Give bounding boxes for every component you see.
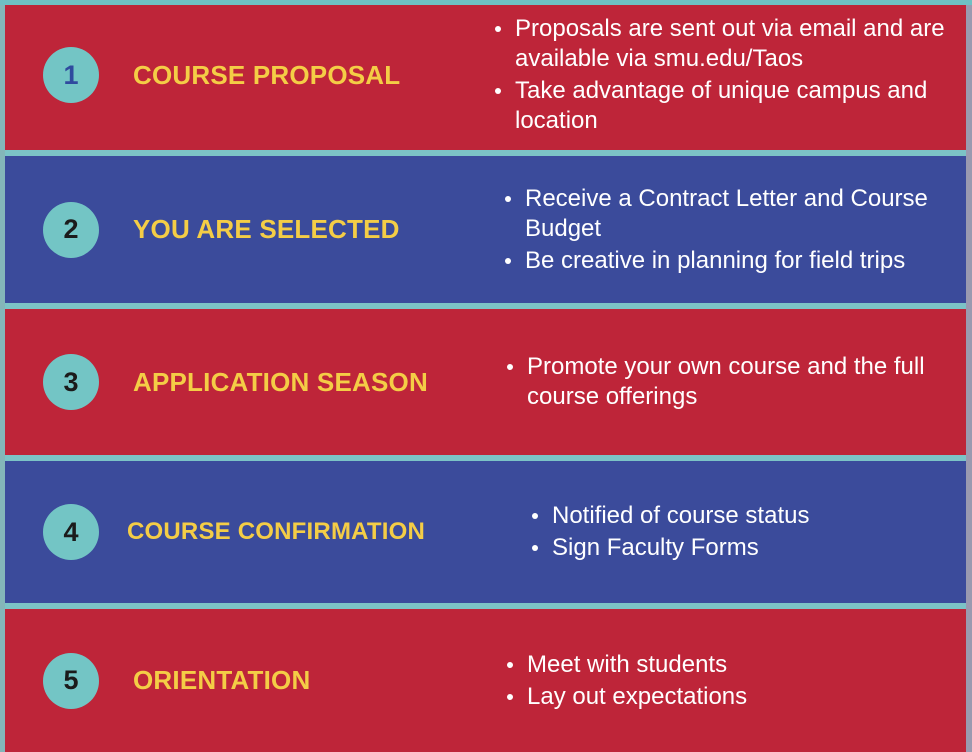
bullet-text: Receive a Contract Letter and Course Bud…	[525, 185, 928, 242]
left-edge-strip	[0, 0, 5, 752]
bullet-dot-icon	[495, 26, 501, 32]
step-5-details: Meet with students Lay out expectations	[491, 650, 966, 712]
step-2-number-badge: 2	[43, 202, 99, 258]
step-row-1: 1 COURSE PROPOSAL Proposals are sent out…	[0, 0, 972, 150]
step-4-details: Notified of course status Sign Faculty F…	[505, 501, 966, 563]
step-1-number-badge: 1	[43, 47, 99, 103]
step-2-heading-group: 2 YOU ARE SELECTED	[5, 202, 491, 258]
step-3-title: APPLICATION SEASON	[133, 367, 428, 398]
bullet-dot-icon	[507, 694, 513, 700]
list-item: Lay out expectations	[505, 682, 747, 712]
step-5-number-badge: 5	[43, 653, 99, 709]
bullet-text: Take advantage of unique campus and loca…	[515, 77, 927, 134]
step-row-5: 5 ORIENTATION Meet with students Lay out…	[0, 603, 972, 752]
step-row-3: 3 APPLICATION SEASON Promote your own co…	[0, 303, 972, 455]
bullet-dot-icon	[505, 196, 511, 202]
right-edge-strip	[966, 0, 972, 752]
step-1-bullet-list: Proposals are sent out via email and are…	[493, 14, 952, 136]
step-1-title: COURSE PROPOSAL	[133, 60, 400, 91]
bullet-text: Sign Faculty Forms	[552, 534, 759, 561]
step-5-bullet-list: Meet with students Lay out expectations	[505, 650, 747, 712]
bullet-dot-icon	[532, 513, 538, 519]
bullet-dot-icon	[495, 88, 501, 94]
step-3-heading-group: 3 APPLICATION SEASON	[5, 354, 491, 410]
step-5-heading-group: 5 ORIENTATION	[5, 653, 491, 709]
step-1-number: 1	[63, 62, 78, 89]
top-edge-strip	[0, 0, 972, 5]
step-2-details: Receive a Contract Letter and Course Bud…	[491, 184, 966, 276]
step-4-heading-group: 4 COURSE CONFIRMATION	[5, 504, 505, 560]
list-item: Be creative in planning for field trips	[503, 246, 952, 276]
step-4-number: 4	[63, 519, 78, 546]
step-2-number: 2	[63, 216, 78, 243]
bullet-text: Meet with students	[527, 651, 727, 678]
step-2-bullet-list: Receive a Contract Letter and Course Bud…	[503, 184, 952, 276]
step-row-2: 2 YOU ARE SELECTED Receive a Contract Le…	[0, 150, 972, 303]
list-item: Notified of course status	[530, 501, 809, 531]
step-3-number-badge: 3	[43, 354, 99, 410]
step-4-number-badge: 4	[43, 504, 99, 560]
bullet-text: Proposals are sent out via email and are…	[515, 15, 945, 72]
step-3-details: Promote your own course and the full cou…	[491, 352, 966, 412]
bullet-text: Lay out expectations	[527, 683, 747, 710]
step-4-title: COURSE CONFIRMATION	[127, 518, 425, 546]
step-3-number: 3	[63, 369, 78, 396]
bullet-text: Promote your own course and the full cou…	[527, 353, 925, 410]
bullet-text: Notified of course status	[552, 502, 809, 529]
list-item: Receive a Contract Letter and Course Bud…	[503, 184, 952, 244]
step-5-title: ORIENTATION	[133, 665, 310, 696]
bullet-dot-icon	[532, 545, 538, 551]
bullet-dot-icon	[505, 258, 511, 264]
bullet-dot-icon	[507, 662, 513, 668]
list-item: Meet with students	[505, 650, 747, 680]
step-5-number: 5	[63, 667, 78, 694]
step-2-title: YOU ARE SELECTED	[133, 214, 400, 245]
list-item: Proposals are sent out via email and are…	[493, 14, 952, 74]
list-item: Promote your own course and the full cou…	[505, 352, 952, 412]
list-item: Sign Faculty Forms	[530, 533, 809, 563]
step-1-heading-group: 1 COURSE PROPOSAL	[5, 47, 491, 103]
step-4-bullet-list: Notified of course status Sign Faculty F…	[530, 501, 809, 563]
step-3-bullet-list: Promote your own course and the full cou…	[505, 352, 952, 412]
bullet-dot-icon	[507, 364, 513, 370]
step-1-details: Proposals are sent out via email and are…	[491, 14, 966, 136]
list-item: Take advantage of unique campus and loca…	[493, 76, 952, 136]
bullet-text: Be creative in planning for field trips	[525, 247, 905, 274]
process-infographic: 1 COURSE PROPOSAL Proposals are sent out…	[0, 0, 972, 752]
step-row-4: 4 COURSE CONFIRMATION Notified of course…	[0, 455, 972, 603]
